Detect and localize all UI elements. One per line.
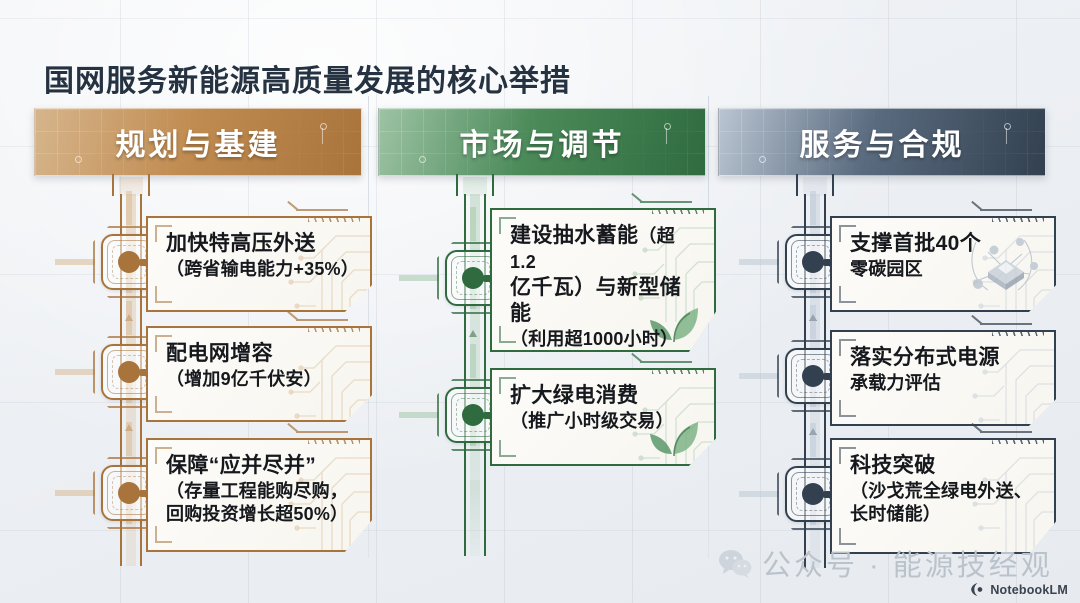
measure-card-service-1[interactable]: 落实分布式电源承载力评估 [830, 330, 1056, 426]
card-subtitle: （增加9亿千伏安） [166, 368, 354, 391]
card-notch [640, 201, 692, 203]
column-planning: 规划与基建加快特高压外送（跨省输电能力+35%）配电网增容（增加9亿千伏安）保障… [34, 108, 374, 578]
card-subtitle: 零碳园区 [850, 258, 1038, 281]
card-notch [640, 361, 692, 363]
watermark: 公众号 · 能源技经观 [718, 542, 1053, 584]
card-subtitle: 承载力评估 [850, 372, 1038, 395]
column-header-label: 规划与基建 [116, 120, 281, 164]
card-title: 建设抽水蓄能（超1.2 [510, 223, 698, 275]
card-title: 支撑首批40个 [850, 231, 1038, 257]
card-subtitle: （沙戈荒全绿电外送、长时储能） [850, 480, 1038, 527]
card-subtitle: （利用超1000小时） [510, 328, 698, 351]
header-dot-right [664, 123, 671, 130]
card-title: 加快特高压外送 [166, 231, 354, 257]
card-subtitle: （推广小时级交易） [510, 410, 698, 433]
measure-card-market-0[interactable]: 建设抽水蓄能（超1.2亿千瓦）与新型储能（利用超1000小时） [490, 208, 716, 352]
brand-label: NotebookLM [990, 583, 1068, 597]
card-notch [296, 319, 348, 321]
infographic-canvas: 国网服务新能源高质量发展的核心举措 规划与基建加快特高压外送（跨省输电能力+35… [0, 0, 1080, 603]
page-title: 国网服务新能源高质量发展的核心举措 [44, 56, 571, 100]
brand-mark: NotebookLM [970, 582, 1068, 597]
measure-card-service-0[interactable]: 支撑首批40个零碳园区 [830, 216, 1056, 312]
column-header-label: 服务与合规 [800, 120, 965, 164]
column-header-planning: 规划与基建 [34, 108, 362, 176]
card-notch [980, 431, 1032, 433]
card-title: 扩大绿电消费 [510, 383, 698, 409]
header-dot-left [759, 156, 766, 163]
measure-card-service-2[interactable]: 科技突破（沙戈荒全绿电外送、长时储能） [830, 438, 1056, 554]
card-notch [296, 209, 348, 211]
card-subtitle: （跨省输电能力+35%） [166, 258, 354, 281]
measure-card-planning-1[interactable]: 配电网增容（增加9亿千伏安） [146, 326, 372, 422]
wechat-icon [718, 548, 752, 578]
header-neck-market [456, 174, 494, 196]
spine-tail-market [464, 480, 486, 556]
notebooklm-icon [970, 582, 985, 597]
header-dot-right [1004, 123, 1011, 130]
column-service: 服务与合规支撑首批40个零碳园区落实分布式电源承载力评估科技突破（沙戈荒全绿电外… [718, 108, 1058, 578]
flow-arrow [469, 330, 477, 337]
measure-card-planning-2[interactable]: 保障“应并尽并”（存量工程能购尽购，回购投资增长超50%） [146, 438, 372, 552]
card-title: 落实分布式电源 [850, 345, 1038, 371]
card-notch [296, 431, 348, 433]
card-title: 科技突破 [850, 453, 1038, 479]
header-dot-left [75, 156, 82, 163]
header-dot-right [320, 123, 327, 130]
card-notch [980, 209, 1032, 211]
card-subtitle: （存量工程能购尽购，回购投资增长超50%） [166, 480, 354, 527]
column-header-service: 服务与合规 [718, 108, 1046, 176]
card-notch [980, 323, 1032, 325]
card-title: 配电网增容 [166, 341, 354, 367]
column-market: 市场与调节建设抽水蓄能（超1.2亿千瓦）与新型储能（利用超1000小时）扩大绿电… [378, 108, 718, 578]
watermark-text: 公众号 · 能源技经观 [762, 542, 1053, 584]
measure-card-planning-0[interactable]: 加快特高压外送（跨省输电能力+35%） [146, 216, 372, 312]
card-title: 保障“应并尽并” [166, 453, 354, 479]
column-header-market: 市场与调节 [378, 108, 706, 176]
header-dot-left [419, 156, 426, 163]
measure-card-market-1[interactable]: 扩大绿电消费（推广小时级交易） [490, 368, 716, 466]
card-title-cont: 亿千瓦）与新型储能 [510, 275, 698, 327]
column-header-label: 市场与调节 [460, 120, 625, 164]
